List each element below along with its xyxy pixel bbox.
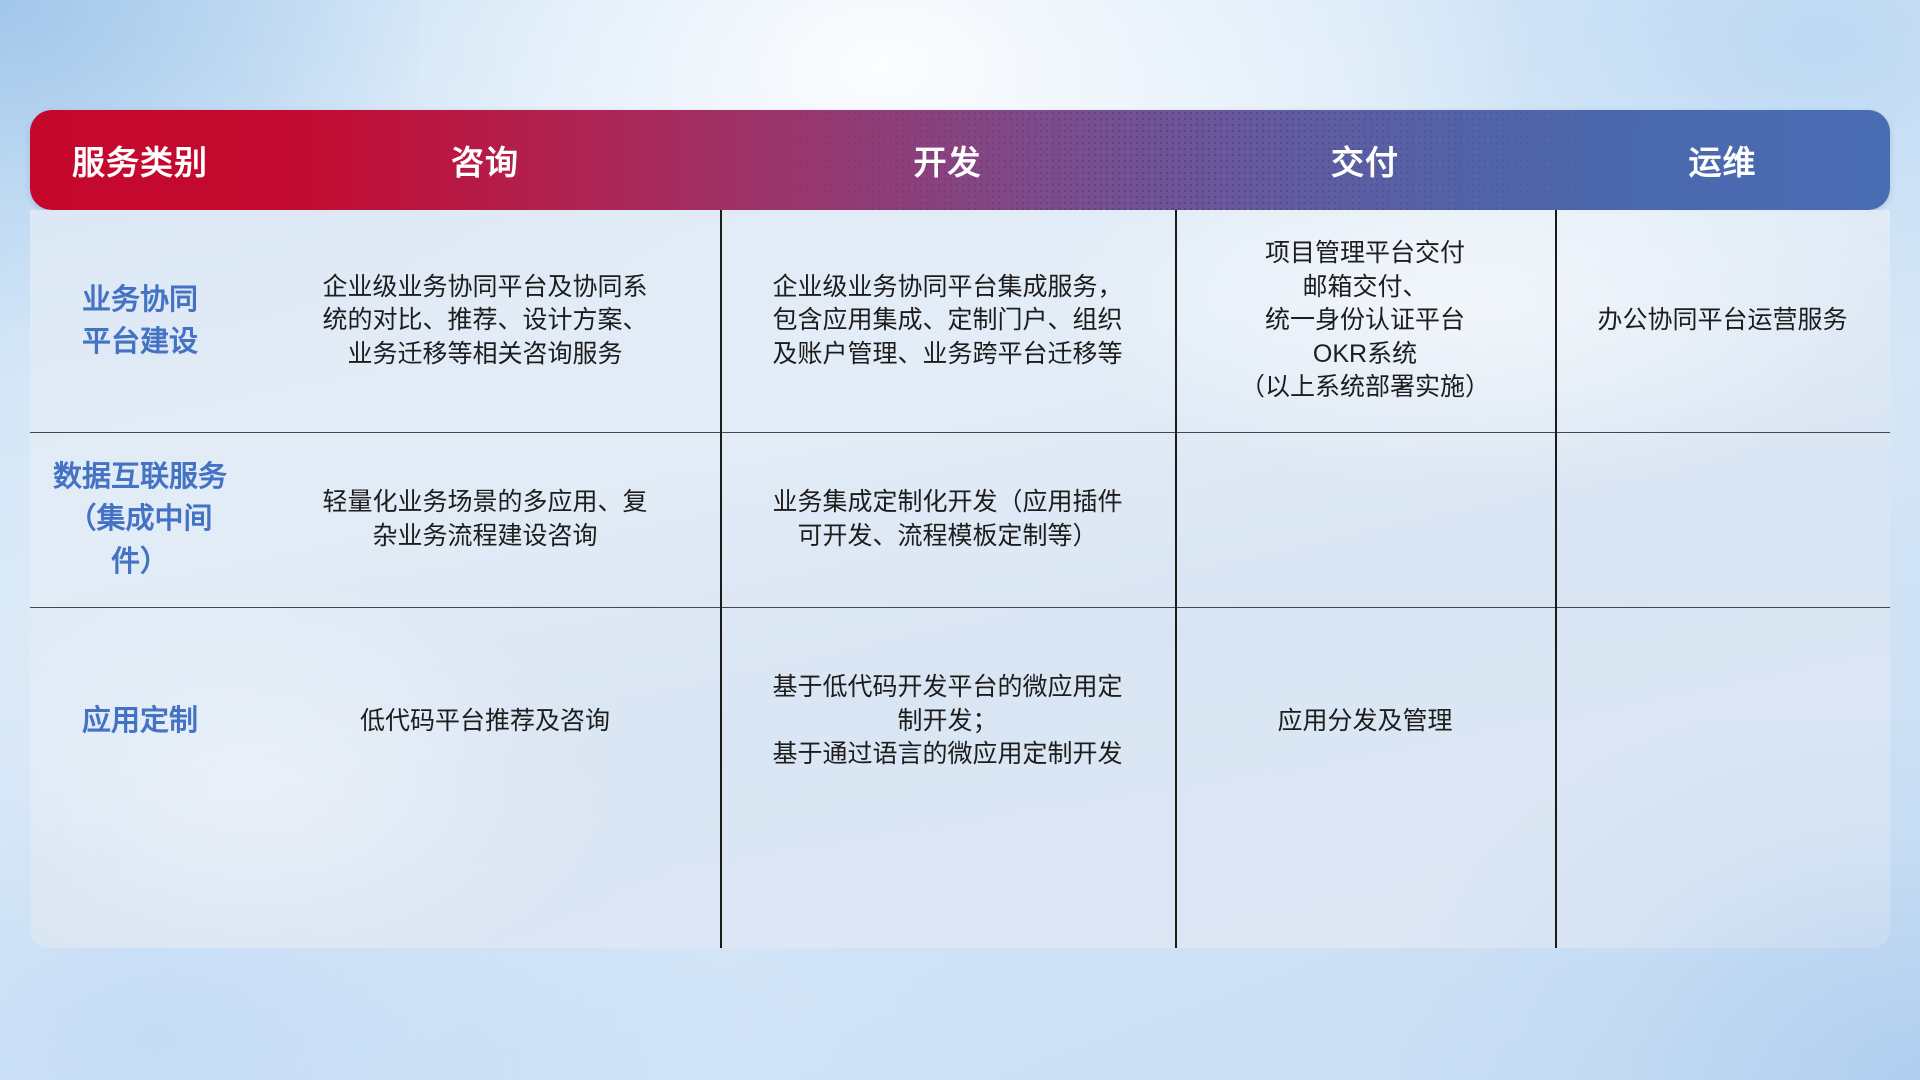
cell-development: 企业级业务协同平台集成服务， 包含应用集成、定制门户、组织 及账户管理、业务跨平… <box>720 265 1175 378</box>
cell-operations <box>1555 716 1890 728</box>
header-row: 服务类别 咨询 开发 交付 运维 <box>30 110 1890 210</box>
table-header: 服务类别 咨询 开发 交付 运维 <box>30 110 1890 210</box>
cell-delivery <box>1175 514 1555 526</box>
column-divider-1 <box>720 210 722 948</box>
cell-consulting: 低代码平台推荐及咨询 <box>250 699 720 745</box>
header-cell-delivery: 交付 <box>1175 136 1555 184</box>
header-cell-consulting: 咨询 <box>250 136 720 184</box>
cell-category: 应用定制 <box>30 694 250 748</box>
column-divider-2 <box>1175 210 1177 948</box>
row-divider-1 <box>30 432 1890 433</box>
header-cell-development: 开发 <box>720 136 1175 184</box>
table-row: 业务协同 平台建设 企业级业务协同平台及协同系 统的对比、推荐、设计方案、 业务… <box>30 210 1890 432</box>
table-row: 数据互联服务 （集成中间件） 轻量化业务场景的多应用、复 杂业务流程建设咨询 业… <box>30 432 1890 607</box>
table-body: 业务协同 平台建设 企业级业务协同平台及协同系 统的对比、推荐、设计方案、 业务… <box>30 210 1890 948</box>
slide-canvas: 服务类别 咨询 开发 交付 运维 业务协同 平台建设 企业级业务协同平台及协同系… <box>0 0 1920 1080</box>
cell-delivery: 应用分发及管理 <box>1175 699 1555 745</box>
service-matrix-table: 服务类别 咨询 开发 交付 运维 业务协同 平台建设 企业级业务协同平台及协同系… <box>30 110 1890 948</box>
cell-category: 数据互联服务 （集成中间件） <box>30 450 250 588</box>
cell-operations <box>1555 514 1890 526</box>
cell-development: 业务集成定制化开发（应用插件 可开发、流程模板定制等） <box>720 480 1175 559</box>
cell-delivery: 项目管理平台交付 邮箱交付、 统一身份认证平台 OKR系统 （以上系统部署实施） <box>1175 231 1555 411</box>
cell-development: 基于低代码开发平台的微应用定 制开发； 基于通过语言的微应用定制开发 <box>720 665 1175 778</box>
cell-category: 业务协同 平台建设 <box>30 273 250 369</box>
cell-consulting: 企业级业务协同平台及协同系 统的对比、推荐、设计方案、 业务迁移等相关咨询服务 <box>250 265 720 378</box>
cell-consulting: 轻量化业务场景的多应用、复 杂业务流程建设咨询 <box>250 480 720 559</box>
column-divider-3 <box>1555 210 1557 948</box>
cell-operations: 办公协同平台运营服务 <box>1555 298 1890 344</box>
header-cell-service-category: 服务类别 <box>30 136 250 184</box>
row-divider-2 <box>30 607 1890 608</box>
table-row: 应用定制 低代码平台推荐及咨询 基于低代码开发平台的微应用定 制开发； 基于通过… <box>30 607 1890 836</box>
header-cell-operations: 运维 <box>1555 136 1890 184</box>
